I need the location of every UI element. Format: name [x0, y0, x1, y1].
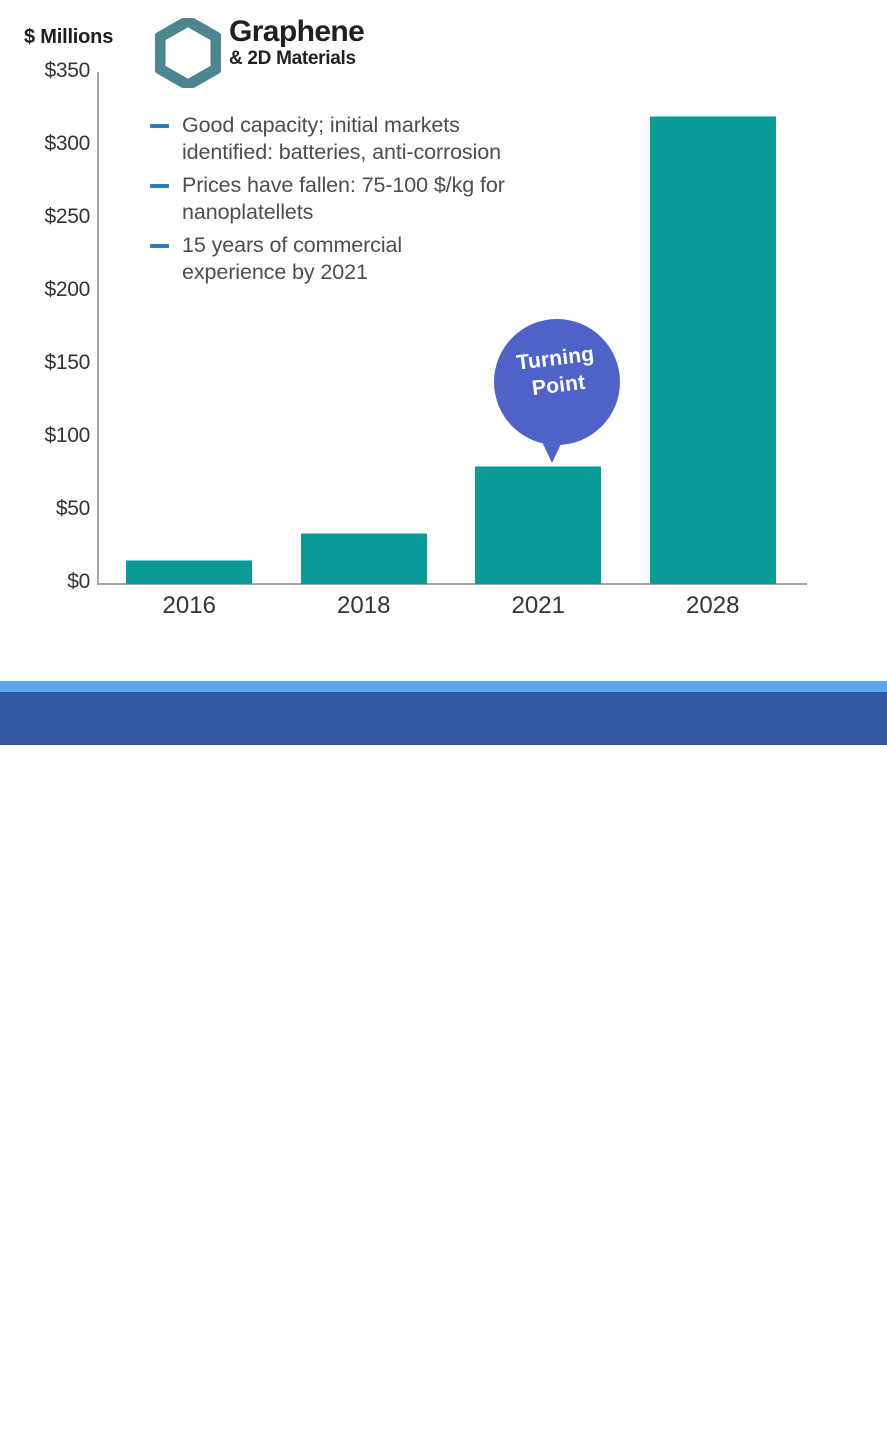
y-tick-label: $50 — [4, 497, 90, 521]
bar-2016 — [126, 560, 252, 584]
x-tick-label: 2028 — [626, 592, 801, 620]
y-tick-label: $300 — [4, 132, 90, 156]
bar-2021 — [475, 466, 601, 584]
y-tick-label: $200 — [4, 278, 90, 302]
bar-2028 — [650, 116, 776, 584]
y-tick-label: $100 — [4, 424, 90, 448]
y-tick-label: $150 — [4, 351, 90, 375]
y-tick-label: $350 — [4, 59, 90, 83]
idtechex-logo: IDTechEx — [742, 1398, 856, 1429]
y-axis-line — [97, 72, 99, 584]
x-tick-label: 2016 — [102, 592, 277, 620]
x-tick-label: 2018 — [277, 592, 452, 620]
y-tick-label: $0 — [4, 570, 90, 594]
turning-point-callout: Turning Point — [494, 319, 620, 445]
y-tick-label: $250 — [4, 205, 90, 229]
y-axis-ticks: $0$50$100$150$200$250$300$350 — [0, 0, 90, 660]
bar-chart: $0$50$100$150$200$250$300$350 2016201820… — [0, 0, 887, 660]
slide-canvas: $ Millions Graphene & 2D Materials Good … — [0, 0, 887, 745]
bar-2018 — [301, 533, 427, 584]
footer-accent-strip — [0, 681, 887, 692]
footer-banner: IDTechEx — [0, 692, 887, 745]
x-tick-label: 2021 — [451, 592, 626, 620]
